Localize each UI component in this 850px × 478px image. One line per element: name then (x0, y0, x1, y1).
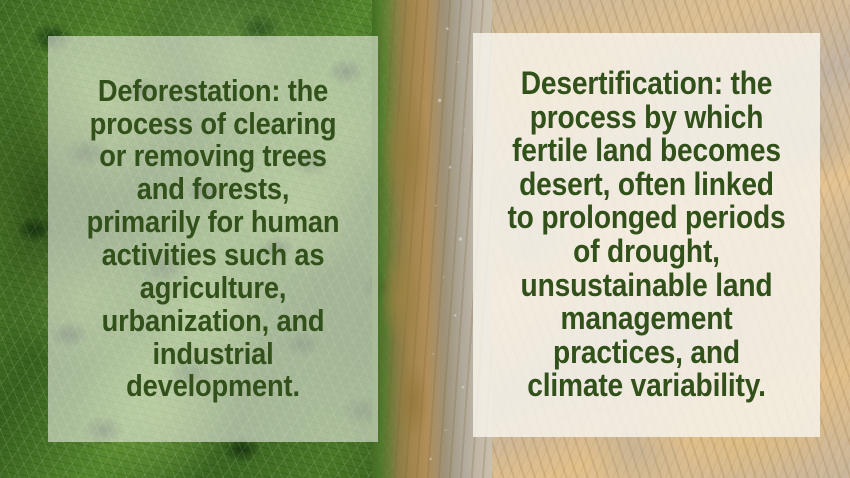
desertification-definition-panel: Desertification: the process by which fe… (473, 33, 820, 437)
comparison-infographic: Deforestation: the process of clearing o… (0, 0, 850, 478)
deforestation-body: the process of clearing or removing tree… (87, 73, 340, 404)
deforestation-definition-text: Deforestation: the process of clearing o… (80, 75, 346, 404)
desertification-body: the process by which fertile land become… (507, 65, 785, 403)
deforestation-definition-panel: Deforestation: the process of clearing o… (48, 36, 378, 442)
deforestation-term: Deforestation: (98, 73, 280, 108)
desertification-term: Desertification: (521, 65, 723, 101)
desertification-definition-text: Desertification: the process by which fe… (504, 67, 788, 403)
